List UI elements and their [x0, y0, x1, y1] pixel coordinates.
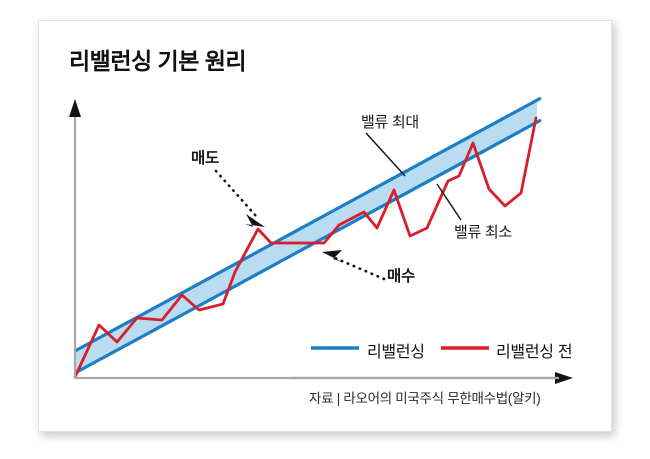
buy-annotation-leader — [335, 258, 384, 279]
sell-annotation-label: 매도 — [191, 146, 219, 168]
chart-card: 리밸런싱 기본 원리 매도 매수 밸류 최대 밸류 최소 — [38, 20, 612, 432]
value-max-label: 밸류 최대 — [361, 111, 419, 132]
value-min-label: 밸류 최소 — [454, 221, 512, 242]
y-axis-arrow-icon — [69, 99, 81, 117]
legend-label-before-rebalancing: 리밸런싱 전 — [496, 338, 572, 362]
sell-annotation-leader — [216, 171, 256, 216]
buy-annotation-label: 매수 — [387, 264, 415, 286]
buy-annotation-arrowhead-icon — [322, 250, 342, 262]
source-note: 자료 | 라오어의 미국주식 무한매수법(알키) — [309, 387, 540, 407]
legend-label-rebalancing: 리밸런싱 — [367, 338, 425, 362]
band-line-lower — [75, 120, 541, 373]
rebalancing-chart — [39, 21, 613, 433]
value-min-leader — [437, 184, 461, 220]
value-max-leader — [366, 133, 405, 176]
